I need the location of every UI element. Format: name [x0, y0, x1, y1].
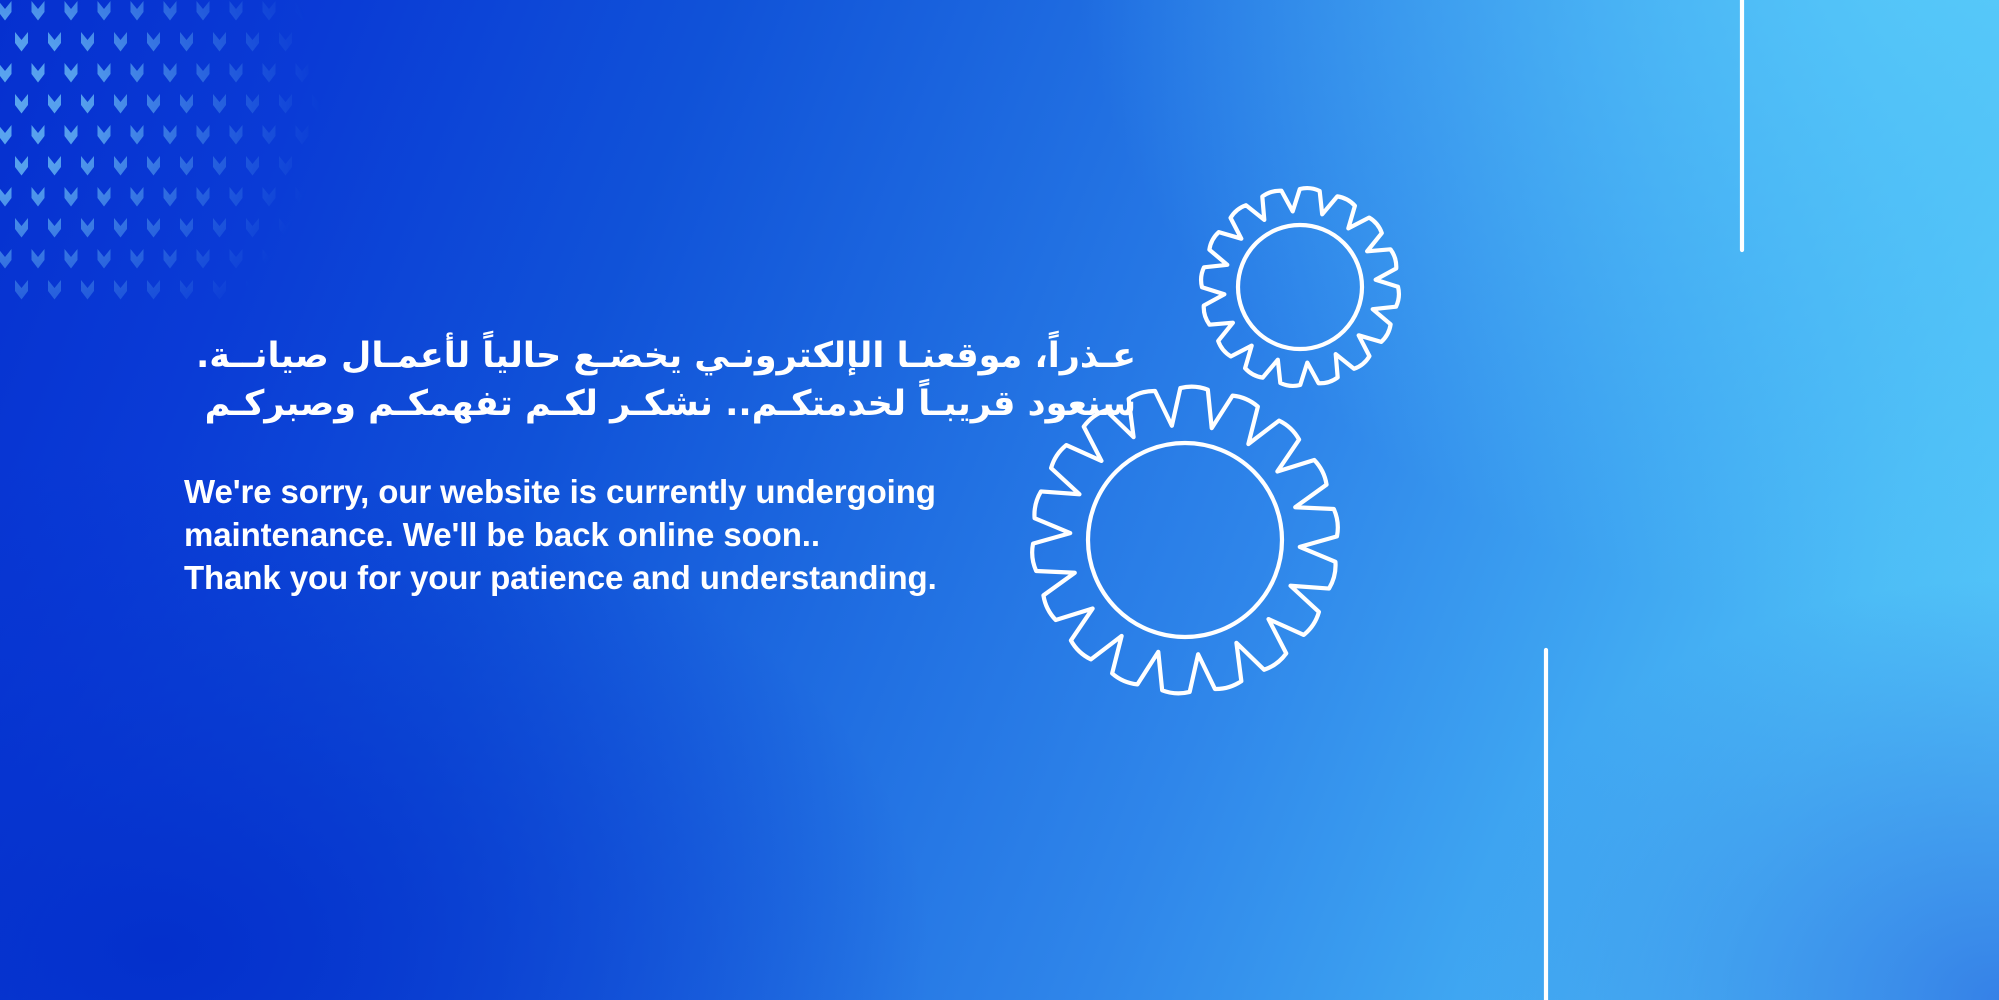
english-line-1: We're sorry, our website is currently un… — [184, 471, 1184, 514]
english-line-3: Thank you for your patience and understa… — [184, 557, 1184, 600]
message-block: عـذراً، موقعنـا الإلكترونـي يخضـع حالياً… — [184, 332, 1184, 600]
arabic-line-2: سنعود قريبـاً لخدمتكـم.. نشكـر لكـم تفهم… — [184, 380, 1136, 430]
english-line-2: maintenance. We'll be back online soon.. — [184, 514, 1184, 557]
maintenance-page: عـذراً، موقعنـا الإلكترونـي يخضـع حالياً… — [0, 0, 1999, 1000]
chevron-pattern-svg — [0, 0, 452, 370]
chevron-pattern-decoration — [0, 0, 452, 370]
arabic-line-1: عـذراً، موقعنـا الإلكترونـي يخضـع حالياً… — [184, 332, 1136, 382]
english-message: We're sorry, our website is currently un… — [184, 471, 1184, 600]
